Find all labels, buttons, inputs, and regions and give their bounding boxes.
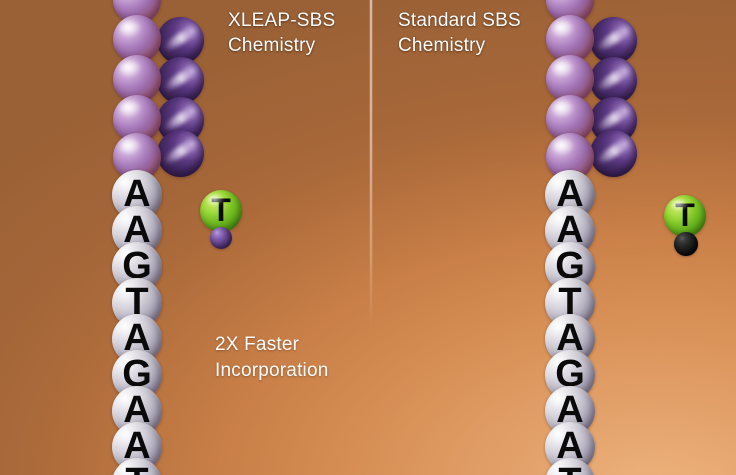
polymer-bead-back: [157, 130, 204, 177]
strand-base-letter: T: [558, 463, 581, 475]
nucleotide-terminator-sphere: [674, 232, 698, 256]
panel-divider: [370, 0, 372, 329]
nucleotide-terminator-sphere: [210, 227, 232, 249]
nucleotide-base-letter: T: [675, 199, 695, 231]
illustration-canvas: A A G T A G A A T T XLEAP-SBS Chemistry …: [0, 0, 736, 475]
panel-right-title: Standard SBS Chemistry: [398, 8, 521, 58]
panel-left-title: XLEAP-SBS Chemistry: [228, 8, 335, 58]
nucleotide-base-circle: T: [200, 190, 242, 232]
speed-caption: 2X Faster Incorporation: [215, 332, 329, 384]
strand-base-letter: T: [125, 463, 148, 475]
nucleotide-base-letter: T: [211, 194, 231, 226]
free-nucleotide-left: T: [200, 190, 254, 254]
polymer-bead-back: [590, 130, 637, 177]
free-nucleotide-right: T: [664, 195, 718, 261]
nucleotide-base-circle: T: [664, 195, 706, 237]
